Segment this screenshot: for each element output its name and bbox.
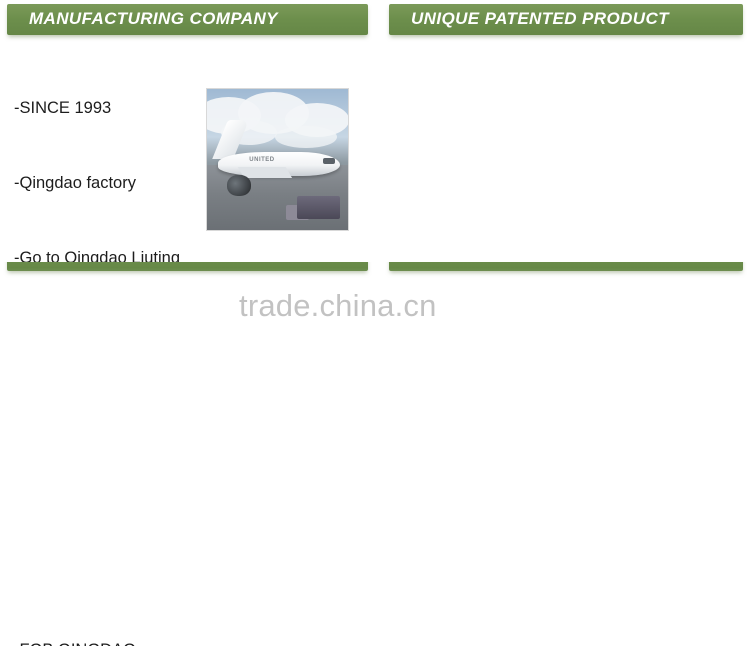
airplane-photo: UNITED (206, 88, 349, 231)
list-item: -SINCE 1993 (14, 96, 214, 121)
panel-header-service: PROFESSIONAL SERVICE (389, 262, 743, 271)
panel-title-trade: TRADE TERMS (29, 262, 156, 265)
panel-header-clip-trade: TRADE TERMS (0, 262, 375, 296)
list-item: -FOB QINGDAO (14, 638, 364, 646)
info-sheet: MANUFACTURING COMPANY -SINCE 1993 -Qingd… (0, 0, 750, 646)
bullet-list-manufacturing: -SINCE 1993 -Qingdao factory -Go to Qing… (14, 46, 214, 262)
panel-manufacturing-company: MANUFACTURING COMPANY -SINCE 1993 -Qingd… (0, 0, 375, 262)
panel-unique-patented-product: UNIQUE PATENTED PRODUCT -Heavy duty cons… (375, 0, 750, 262)
panel-title-service: PROFESSIONAL SERVICE (411, 262, 632, 265)
panel-title-manufacturing: MANUFACTURING COMPANY (29, 9, 278, 29)
panel-trade-terms: TRADE TERMS -FOB QINGDAO -Standard packa… (0, 262, 375, 646)
panel-header-trade: TRADE TERMS (7, 262, 368, 271)
bullet-list-trade: -FOB QINGDAO -Standard package(carton/si… (14, 588, 364, 646)
panel-professional-service: PROFESSIONAL SERVICE (375, 262, 750, 646)
panel-header-manufacturing: MANUFACTURING COMPANY (7, 4, 368, 35)
panel-header-clip-service: PROFESSIONAL SERVICE (375, 262, 750, 296)
panel-header-product: UNIQUE PATENTED PRODUCT (389, 4, 743, 35)
panel-title-product: UNIQUE PATENTED PRODUCT (411, 9, 669, 29)
list-item: -Qingdao factory (14, 171, 214, 196)
list-item: -Go to Qingdao Liuting (14, 246, 214, 262)
